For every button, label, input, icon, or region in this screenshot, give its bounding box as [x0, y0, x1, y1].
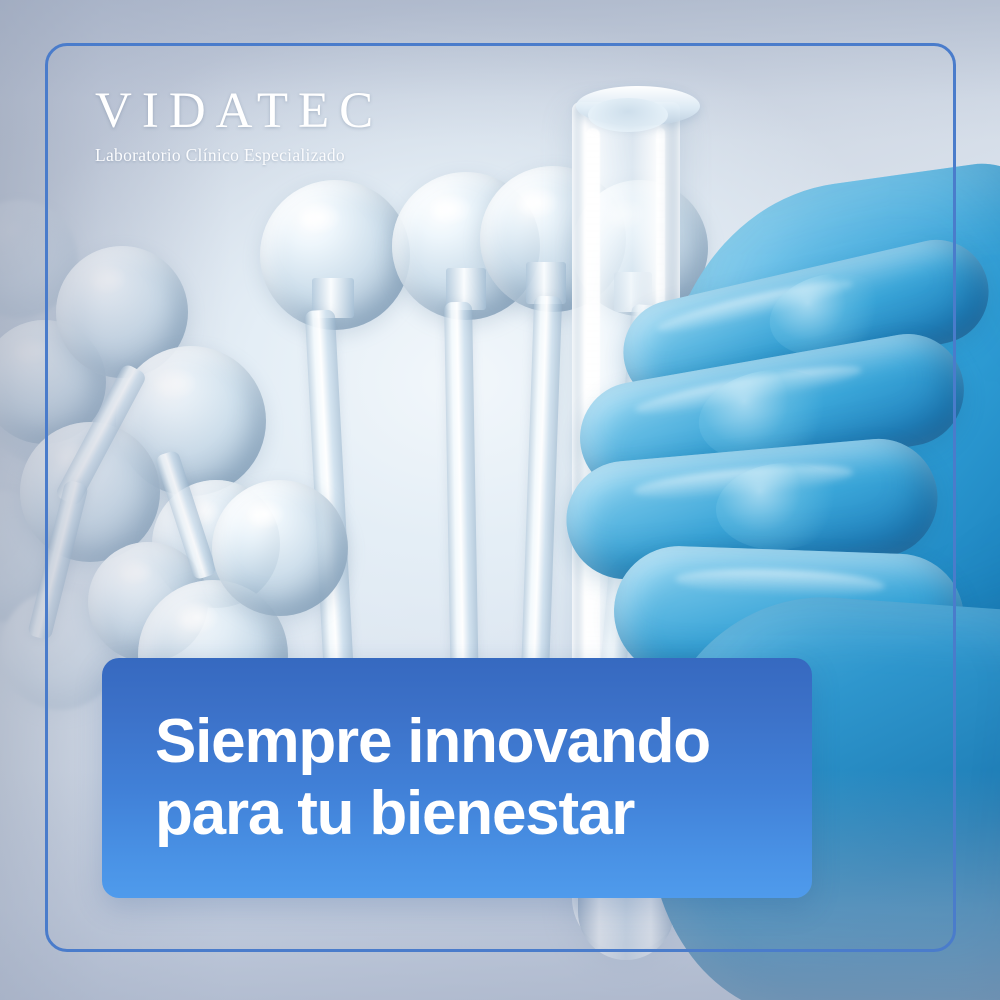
brand-tagline: Laboratorio Clínico Especializado — [95, 145, 515, 166]
brand-logo: VIDATEC Laboratorio Clínico Especializad… — [95, 86, 515, 166]
headline-line-1: Siempre innovando — [155, 710, 812, 774]
dna-node — [212, 480, 348, 616]
tube-inner-opening — [588, 98, 668, 132]
brand-name: VIDATEC — [95, 86, 515, 137]
headline-banner: Siempre innovando para tu bienestar — [102, 658, 812, 898]
poster-canvas: VIDATEC Laboratorio Clínico Especializad… — [0, 0, 1000, 1000]
headline-line-2: para tu bienestar — [155, 782, 812, 846]
